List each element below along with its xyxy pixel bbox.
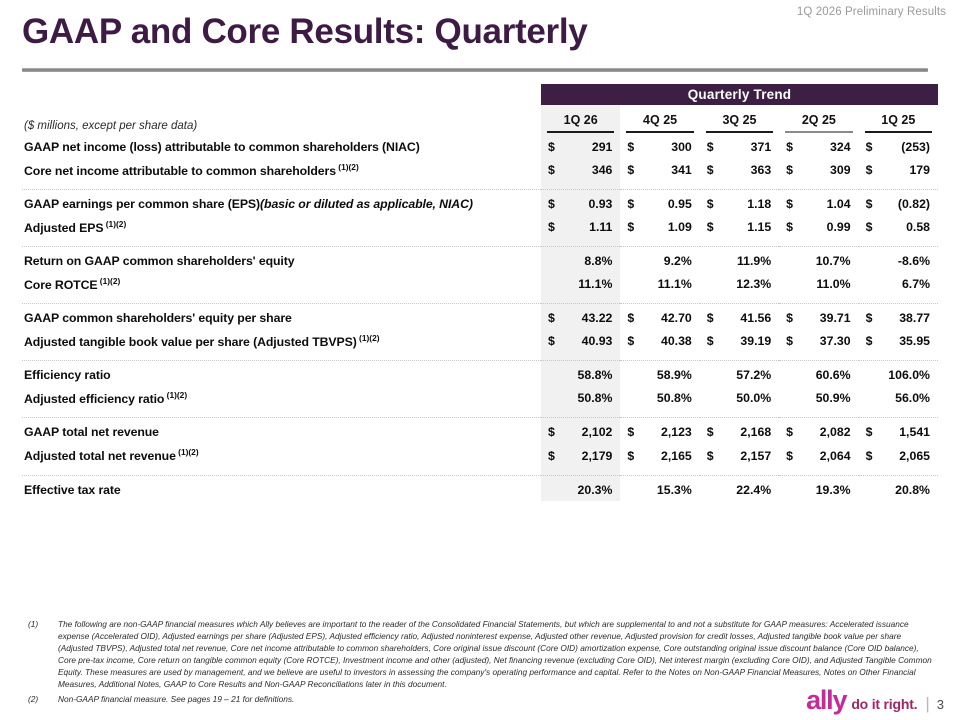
column-header-4q25: 4Q 25 (620, 105, 699, 136)
cell-value: 1.11 (589, 220, 620, 234)
data-cell: $341 (620, 158, 699, 182)
cell-value: 363 (751, 163, 780, 177)
dotted-rule (620, 189, 699, 191)
data-cell: $37.30 (779, 329, 858, 353)
data-cell: $39.71 (779, 307, 858, 329)
column-header-label: 1Q 26 (564, 113, 598, 127)
cell-value: 0.99 (827, 220, 859, 234)
data-cell: $43.22 (541, 307, 620, 329)
data-cell: $2,123 (620, 421, 699, 443)
data-cell: $2,082 (779, 421, 858, 443)
currency-symbol: $ (779, 425, 793, 439)
cell-value: 6.7% (902, 277, 938, 291)
separator-cell (859, 410, 938, 421)
footnote-marker: (1)(2) (357, 333, 380, 343)
currency-symbol: $ (779, 449, 793, 463)
cell-value: 38.77 (899, 311, 938, 325)
cell-value: 2,179 (582, 449, 621, 463)
data-cell: 50.8% (620, 386, 699, 410)
column-header-underline (547, 131, 614, 133)
ally-tagline: do it right. (851, 697, 917, 711)
data-cell: $2,102 (541, 421, 620, 443)
quarterly-results-table-container: Quarterly Trend ($ millions, except per … (22, 84, 938, 501)
table-row: Adjusted EPS (1)(2)$1.11$1.09$1.15$0.99$… (22, 215, 938, 239)
footnote-number: (1) (22, 618, 58, 630)
currency-symbol: $ (700, 163, 714, 177)
table-row: GAAP net income (loss) attributable to c… (22, 136, 938, 158)
cell-value: 1.04 (827, 197, 859, 211)
data-cell: 58.9% (620, 364, 699, 386)
dotted-rule (22, 246, 541, 248)
cell-value: (253) (901, 140, 938, 154)
cell-value: 58.9% (657, 368, 700, 382)
data-cell: $0.99 (779, 215, 858, 239)
data-cell: $291 (541, 136, 620, 158)
separator-cell (859, 468, 938, 479)
row-label: GAAP total net revenue (22, 421, 541, 443)
cell-value: 50.0% (736, 391, 779, 405)
row-label-text: Adjusted total net revenue (24, 450, 176, 464)
data-cell: $0.93 (541, 193, 620, 215)
footnote-marker: (1)(2) (103, 219, 126, 229)
dotted-rule (541, 475, 620, 477)
separator-cell (541, 182, 620, 193)
data-cell: $346 (541, 158, 620, 182)
separator-cell (22, 182, 541, 193)
currency-symbol: $ (620, 425, 634, 439)
data-cell: $41.56 (700, 307, 779, 329)
data-cell: $2,064 (779, 443, 858, 467)
separator-cell (620, 296, 699, 307)
currency-symbol: $ (541, 311, 555, 325)
cell-value: 43.22 (582, 311, 621, 325)
row-label-text: Efficiency ratio (24, 368, 111, 382)
currency-symbol: $ (859, 140, 873, 154)
row-label-text: GAAP common shareholders' equity per sha… (24, 311, 292, 325)
data-cell: 20.8% (859, 479, 938, 501)
cell-value: 57.2% (736, 368, 779, 382)
separator-cell (779, 468, 858, 479)
row-label-text: Adjusted tangible book value per share (… (24, 335, 357, 349)
data-cell: 9.2% (620, 250, 699, 272)
column-header-3q25: 3Q 25 (700, 105, 779, 136)
cell-value: 11.1% (578, 277, 620, 291)
column-header-label: 4Q 25 (643, 113, 677, 127)
cell-value: 40.38 (661, 334, 700, 348)
data-cell: 58.8% (541, 364, 620, 386)
data-cell: $1.18 (700, 193, 779, 215)
cell-value: 58.8% (578, 368, 621, 382)
table-row: Return on GAAP common shareholders' equi… (22, 250, 938, 272)
data-cell: $371 (700, 136, 779, 158)
currency-symbol: $ (700, 449, 714, 463)
cell-value: 2,102 (582, 425, 621, 439)
dotted-rule (700, 417, 779, 419)
footnote-marker: (1)(2) (97, 276, 120, 286)
data-cell: $1.11 (541, 215, 620, 239)
currency-symbol: $ (700, 311, 714, 325)
footnote-text: Non-GAAP financial measure. See pages 19… (58, 693, 932, 705)
dotted-rule (859, 417, 938, 419)
group-separator (22, 468, 938, 479)
column-header-label: 3Q 25 (722, 113, 756, 127)
cell-value: 56.0% (895, 391, 938, 405)
cell-value: 2,168 (740, 425, 779, 439)
footnote-marker: (1)(2) (336, 162, 359, 172)
cell-value: 20.8% (895, 483, 938, 497)
cell-value: 371 (751, 140, 780, 154)
footnotes-block: (1)The following are non-GAAP financial … (22, 618, 932, 705)
row-label-text: GAAP total net revenue (24, 425, 159, 439)
separator-cell (700, 468, 779, 479)
separator-cell (779, 182, 858, 193)
data-cell: $42.70 (620, 307, 699, 329)
row-label: GAAP earnings per common share (EPS)(bas… (22, 193, 541, 215)
separator-cell (22, 353, 541, 364)
separator-cell (22, 468, 541, 479)
currency-symbol: $ (859, 220, 873, 234)
currency-symbol: $ (700, 140, 714, 154)
dotted-rule (620, 303, 699, 305)
currency-symbol: $ (779, 197, 793, 211)
separator-cell (541, 353, 620, 364)
cell-value: 2,157 (740, 449, 779, 463)
cell-value: 20.3% (578, 483, 621, 497)
footer-divider: | (925, 695, 929, 712)
data-cell: 8.8% (541, 250, 620, 272)
table-row: Adjusted total net revenue (1)(2)$2,179$… (22, 443, 938, 467)
column-header-label: 1Q 25 (881, 113, 915, 127)
data-cell: 11.0% (779, 272, 858, 296)
separator-cell (541, 239, 620, 250)
row-label: Core net income attributable to common s… (22, 158, 541, 182)
footnote-marker: (1)(2) (164, 390, 187, 400)
currency-symbol: $ (779, 163, 793, 177)
group-separator (22, 296, 938, 307)
cell-value: 0.93 (588, 197, 620, 211)
row-label: Adjusted efficiency ratio (1)(2) (22, 386, 541, 410)
separator-cell (620, 239, 699, 250)
separator-cell (779, 296, 858, 307)
cell-value: 1,541 (899, 425, 938, 439)
row-label: GAAP net income (loss) attributable to c… (22, 136, 541, 158)
table-row: Core ROTCE (1)(2)11.1%11.1%12.3%11.0%6.7… (22, 272, 938, 296)
data-cell: 19.3% (779, 479, 858, 501)
cell-value: 50.8% (657, 391, 700, 405)
cell-value: 22.4% (736, 483, 779, 497)
data-cell: $40.38 (620, 329, 699, 353)
dotted-rule (22, 475, 541, 477)
quarterly-trend-banner: Quarterly Trend (541, 84, 938, 105)
cell-value: 50.8% (578, 391, 621, 405)
cell-value: 341 (671, 163, 700, 177)
cell-value: 324 (830, 140, 859, 154)
cell-value: 40.93 (582, 334, 621, 348)
row-label: Adjusted EPS (1)(2) (22, 215, 541, 239)
separator-cell (620, 410, 699, 421)
data-cell: $2,168 (700, 421, 779, 443)
dotted-rule (779, 475, 858, 477)
data-cell: 50.9% (779, 386, 858, 410)
currency-symbol: $ (541, 425, 555, 439)
currency-symbol: $ (779, 220, 793, 234)
footer-branding: ally do it right. | 3 (806, 687, 944, 714)
column-header-1q26: 1Q 26 (541, 105, 620, 136)
dotted-rule (620, 417, 699, 419)
cell-value: 35.95 (899, 334, 938, 348)
dotted-rule (620, 246, 699, 248)
currency-symbol: $ (620, 163, 634, 177)
dotted-rule (22, 303, 541, 305)
currency-symbol: $ (620, 197, 634, 211)
cell-value: -8.6% (898, 254, 938, 268)
data-cell: $1.09 (620, 215, 699, 239)
separator-cell (779, 410, 858, 421)
footnote-row: (1)The following are non-GAAP financial … (22, 618, 932, 690)
currency-symbol: $ (859, 425, 873, 439)
data-cell: $38.77 (859, 307, 938, 329)
dotted-rule (779, 303, 858, 305)
cell-value: 106.0% (888, 368, 938, 382)
dotted-rule (859, 475, 938, 477)
data-cell: -8.6% (859, 250, 938, 272)
currency-symbol: $ (700, 425, 714, 439)
data-cell: 50.8% (541, 386, 620, 410)
data-cell: $39.19 (700, 329, 779, 353)
cell-value: 2,065 (899, 449, 938, 463)
column-header-row: ($ millions, except per share data) 1Q 2… (22, 105, 938, 136)
dotted-rule (700, 475, 779, 477)
separator-cell (700, 239, 779, 250)
currency-symbol: $ (541, 163, 555, 177)
separator-cell (859, 239, 938, 250)
data-cell: 60.6% (779, 364, 858, 386)
cell-value: 179 (909, 163, 938, 177)
currency-symbol: $ (859, 334, 873, 348)
currency-symbol: $ (859, 197, 873, 211)
dotted-rule (779, 189, 858, 191)
data-cell: $35.95 (859, 329, 938, 353)
data-cell: $2,065 (859, 443, 938, 467)
data-cell: $0.58 (859, 215, 938, 239)
cell-value: 42.70 (661, 311, 700, 325)
cell-value: 41.56 (740, 311, 779, 325)
dotted-rule (859, 246, 938, 248)
cell-value: 60.6% (816, 368, 859, 382)
currency-symbol: $ (859, 449, 873, 463)
currency-symbol: $ (700, 334, 714, 348)
data-cell: 50.0% (700, 386, 779, 410)
currency-symbol: $ (620, 220, 634, 234)
data-cell: 11.9% (700, 250, 779, 272)
dotted-rule (22, 189, 541, 191)
cell-value: 9.2% (664, 254, 700, 268)
page-number: 3 (937, 698, 944, 711)
data-cell: 20.3% (541, 479, 620, 501)
cell-value: 39.71 (820, 311, 859, 325)
currency-symbol: $ (779, 334, 793, 348)
data-cell: $2,179 (541, 443, 620, 467)
cell-value: 1.09 (668, 220, 700, 234)
dotted-rule (779, 246, 858, 248)
table-row: GAAP earnings per common share (EPS)(bas… (22, 193, 938, 215)
column-header-underline (626, 131, 693, 133)
column-header-1q25: 1Q 25 (859, 105, 938, 136)
separator-cell (779, 353, 858, 364)
data-cell: 11.1% (541, 272, 620, 296)
currency-symbol: $ (620, 449, 634, 463)
units-caption: ($ millions, except per share data) (22, 105, 541, 136)
cell-value: 12.3% (736, 277, 779, 291)
separator-cell (620, 182, 699, 193)
data-cell: $(253) (859, 136, 938, 158)
separator-cell (859, 182, 938, 193)
column-header-label: 2Q 25 (802, 113, 836, 127)
table-row: GAAP common shareholders' equity per sha… (22, 307, 938, 329)
cell-value: 11.9% (737, 254, 779, 268)
separator-cell (541, 410, 620, 421)
dotted-rule (779, 360, 858, 362)
row-label: Adjusted total net revenue (1)(2) (22, 443, 541, 467)
data-cell: $309 (779, 158, 858, 182)
row-label-text: Return on GAAP common shareholders' equi… (24, 254, 294, 268)
currency-symbol: $ (620, 311, 634, 325)
currency-symbol: $ (541, 140, 555, 154)
cell-value: 2,123 (661, 425, 700, 439)
table-row: Efficiency ratio58.8%58.9%57.2%60.6%106.… (22, 364, 938, 386)
data-cell: $0.95 (620, 193, 699, 215)
table-row: Core net income attributable to common s… (22, 158, 938, 182)
data-cell: $1.04 (779, 193, 858, 215)
data-cell: $363 (700, 158, 779, 182)
cell-value: 2,082 (820, 425, 859, 439)
separator-cell (700, 296, 779, 307)
footnote-row: (2)Non-GAAP financial measure. See pages… (22, 693, 932, 705)
data-cell: 12.3% (700, 272, 779, 296)
dotted-rule (541, 303, 620, 305)
cell-value: (0.82) (898, 197, 938, 211)
data-cell: 56.0% (859, 386, 938, 410)
separator-cell (859, 296, 938, 307)
cell-value: 10.7% (816, 254, 859, 268)
row-label: Efficiency ratio (22, 364, 541, 386)
banner-spacer (22, 84, 541, 105)
currency-symbol: $ (859, 163, 873, 177)
dotted-rule (541, 360, 620, 362)
cell-value: 291 (592, 140, 621, 154)
cell-value: 2,165 (661, 449, 700, 463)
dotted-rule (620, 360, 699, 362)
data-cell: 11.1% (620, 272, 699, 296)
cell-value: 0.58 (906, 220, 938, 234)
data-cell: $300 (620, 136, 699, 158)
currency-symbol: $ (620, 140, 634, 154)
footnote-marker: (1)(2) (176, 447, 199, 457)
row-label: Effective tax rate (22, 479, 541, 501)
dotted-rule (541, 189, 620, 191)
footnote-number: (2) (22, 693, 58, 705)
ally-logo-wordmark: ally (806, 687, 846, 714)
data-cell: 22.4% (700, 479, 779, 501)
data-cell: $1.15 (700, 215, 779, 239)
cell-value: 0.95 (668, 197, 700, 211)
page-title: GAAP and Core Results: Quarterly (22, 14, 587, 49)
row-label-text: Adjusted EPS (24, 221, 103, 235)
cell-value: 300 (671, 140, 700, 154)
currency-symbol: $ (541, 220, 555, 234)
dotted-rule (700, 360, 779, 362)
data-cell: $(0.82) (859, 193, 938, 215)
currency-symbol: $ (779, 311, 793, 325)
cell-value: 346 (592, 163, 621, 177)
column-header-2q25: 2Q 25 (779, 105, 858, 136)
separator-cell (620, 353, 699, 364)
dotted-rule (22, 417, 541, 419)
group-separator (22, 353, 938, 364)
cell-value: 1.15 (747, 220, 779, 234)
results-period-eyebrow: 1Q 2026 Preliminary Results (797, 6, 946, 18)
data-cell: 10.7% (779, 250, 858, 272)
table-row: Adjusted tangible book value per share (… (22, 329, 938, 353)
table-body: GAAP net income (loss) attributable to c… (22, 136, 938, 501)
data-cell: $40.93 (541, 329, 620, 353)
separator-cell (700, 410, 779, 421)
separator-cell (22, 410, 541, 421)
table-row: GAAP total net revenue$2,102$2,123$2,168… (22, 421, 938, 443)
separator-cell (700, 182, 779, 193)
quarterly-results-table: Quarterly Trend ($ millions, except per … (22, 84, 938, 501)
currency-symbol: $ (541, 197, 555, 211)
separator-cell (541, 468, 620, 479)
cell-value: 19.3% (816, 483, 859, 497)
dotted-rule (700, 246, 779, 248)
column-header-underline (865, 131, 932, 133)
row-label: Core ROTCE (1)(2) (22, 272, 541, 296)
data-cell: $2,157 (700, 443, 779, 467)
group-separator (22, 182, 938, 193)
cell-value: 2,064 (820, 449, 859, 463)
row-label-text: Adjusted efficiency ratio (24, 392, 164, 406)
dotted-rule (859, 189, 938, 191)
group-separator (22, 410, 938, 421)
cell-value: 39.19 (740, 334, 779, 348)
separator-cell (22, 239, 541, 250)
cell-value: 309 (830, 163, 859, 177)
currency-symbol: $ (859, 311, 873, 325)
table-row: Adjusted efficiency ratio (1)(2)50.8%50.… (22, 386, 938, 410)
currency-symbol: $ (779, 140, 793, 154)
cell-value: 11.1% (658, 277, 700, 291)
dotted-rule (779, 417, 858, 419)
row-label: Adjusted tangible book value per share (… (22, 329, 541, 353)
row-label: GAAP common shareholders' equity per sha… (22, 307, 541, 329)
title-divider-rule (22, 68, 928, 72)
row-label-qualifier: (basic or diluted as applicable, NIAC) (260, 197, 473, 211)
currency-symbol: $ (541, 449, 555, 463)
separator-cell (859, 353, 938, 364)
footnote-text: The following are non-GAAP financial mea… (58, 618, 932, 690)
dotted-rule (541, 417, 620, 419)
row-label-text: Core net income attributable to common s… (24, 164, 336, 178)
separator-cell (620, 468, 699, 479)
cell-value: 50.9% (816, 391, 859, 405)
cell-value: 1.18 (747, 197, 779, 211)
separator-cell (541, 296, 620, 307)
row-label: Return on GAAP common shareholders' equi… (22, 250, 541, 272)
dotted-rule (541, 246, 620, 248)
currency-symbol: $ (700, 197, 714, 211)
group-separator (22, 239, 938, 250)
